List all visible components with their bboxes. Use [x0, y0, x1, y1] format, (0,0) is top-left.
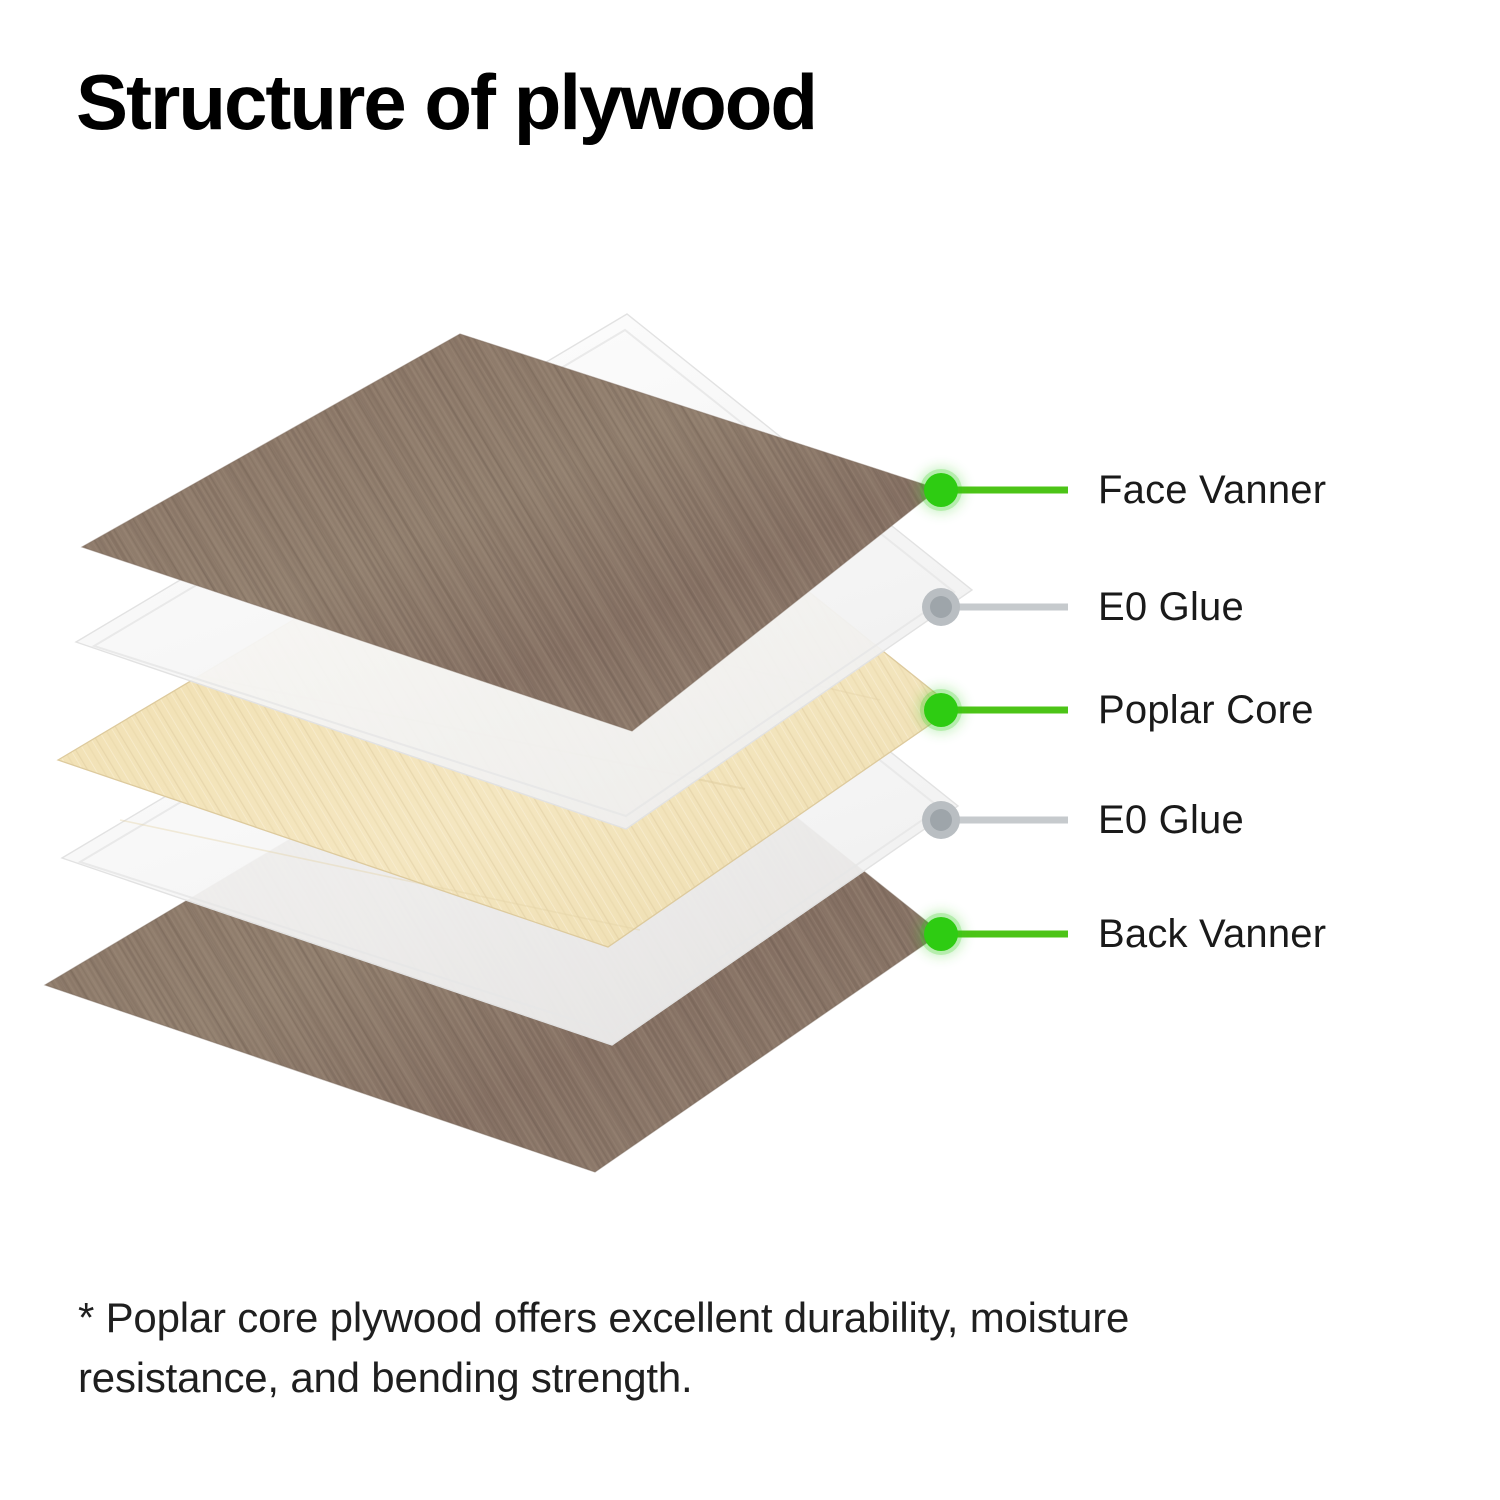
label-face-vanner: Face Vanner	[1098, 470, 1326, 510]
callout-back-vanner	[920, 913, 1068, 955]
callout-glue-top	[922, 588, 1068, 626]
callout-poplar-core	[920, 689, 1068, 731]
green-dot-face-vanner	[924, 473, 958, 507]
callout-face-vanner	[920, 469, 1068, 511]
plywood-exploded-diagram	[0, 0, 1500, 1500]
label-glue-top: E0 Glue	[1098, 587, 1244, 627]
green-dot-poplar-core	[924, 693, 958, 727]
footnote-text: * Poplar core plywood offers excellent d…	[78, 1288, 1318, 1407]
label-glue-bottom: E0 Glue	[1098, 800, 1244, 840]
label-back-vanner: Back Vanner	[1098, 914, 1326, 954]
label-poplar-core: Poplar Core	[1098, 690, 1314, 730]
green-dot-back-vanner	[924, 917, 958, 951]
callout-glue-bottom	[922, 801, 1068, 839]
gray-dot-inner-glue-bottom	[930, 809, 952, 831]
gray-dot-inner-glue-top	[930, 596, 952, 618]
